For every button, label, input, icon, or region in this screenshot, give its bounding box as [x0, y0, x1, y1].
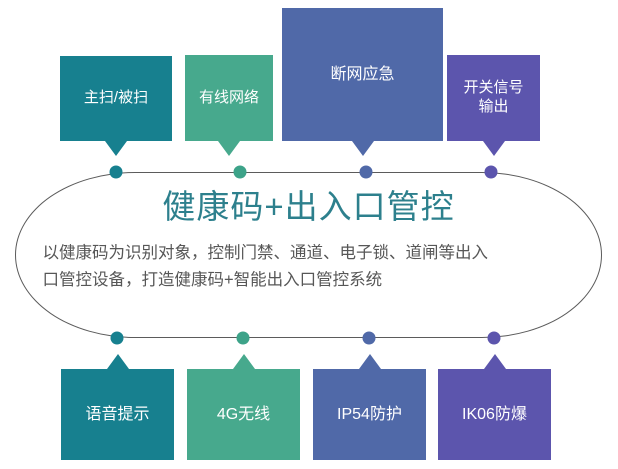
description-line-2: 口管控设备，打造健康码+智能出入口管控系统: [43, 267, 575, 294]
connector-dot-bottom-2: [237, 332, 250, 345]
top-feature-box-1-label: 主扫/被扫: [84, 89, 148, 108]
bottom-feature-box-4-label: IK06防爆: [462, 405, 527, 425]
bottom-feature-box-3-label: IP54防护: [337, 405, 402, 425]
bottom-feature-box-3-pointer-up-icon: [359, 354, 381, 369]
top-feature-box-4-label: 开关信号 输出: [463, 79, 523, 117]
bottom-feature-box-2-pointer-up-icon: [233, 354, 255, 369]
description-line-1: 以健康码为识别对象，控制门禁、通道、电子锁、道闸等出入: [43, 240, 575, 267]
connector-dot-top-1: [110, 166, 123, 179]
bottom-feature-box-1-label: 语音提示: [85, 405, 149, 425]
bottom-feature-box-2-label: 4G无线: [217, 405, 270, 425]
connector-dot-top-3: [360, 166, 373, 179]
page-title: 健康码+出入口管控: [162, 188, 454, 226]
top-feature-box-1-pointer-down-icon: [105, 141, 127, 156]
bottom-feature-box-1[interactable]: 语音提示: [61, 369, 174, 460]
connector-dot-bottom-1: [111, 332, 124, 345]
bottom-feature-box-4[interactable]: IK06防爆: [438, 369, 551, 460]
central-capsule-content: 健康码+出入口管控 以健康码为识别对象，控制门禁、通道、电子锁、道闸等出入 口管…: [15, 172, 602, 338]
bottom-feature-box-1-pointer-up-icon: [107, 354, 129, 369]
top-feature-box-2[interactable]: 有线网络: [185, 55, 273, 141]
top-feature-box-4[interactable]: 开关信号 输出: [447, 55, 540, 141]
top-feature-box-2-label: 有线网络: [199, 89, 259, 108]
description-text: 以健康码为识别对象，控制门禁、通道、电子锁、道闸等出入 口管控设备，打造健康码+…: [43, 240, 575, 294]
connector-dot-top-4: [485, 166, 498, 179]
bottom-feature-box-3[interactable]: IP54防护: [313, 369, 426, 460]
infographic-canvas: 主扫/被扫有线网络断网应急开关信号 输出 健康码+出入口管控 以健康码为识别对象…: [0, 0, 618, 469]
bottom-feature-box-2[interactable]: 4G无线: [187, 369, 300, 460]
connector-dot-bottom-3: [363, 332, 376, 345]
top-feature-box-3-label: 断网应急: [330, 65, 394, 85]
top-feature-box-1[interactable]: 主扫/被扫: [60, 56, 172, 141]
bottom-feature-box-4-pointer-up-icon: [484, 354, 506, 369]
connector-dot-top-2: [234, 166, 247, 179]
top-feature-box-4-pointer-down-icon: [483, 141, 505, 156]
top-feature-box-2-pointer-down-icon: [218, 141, 240, 156]
top-feature-box-3[interactable]: 断网应急: [282, 8, 443, 141]
connector-dot-bottom-4: [488, 332, 501, 345]
top-feature-box-3-pointer-down-icon: [352, 141, 374, 156]
